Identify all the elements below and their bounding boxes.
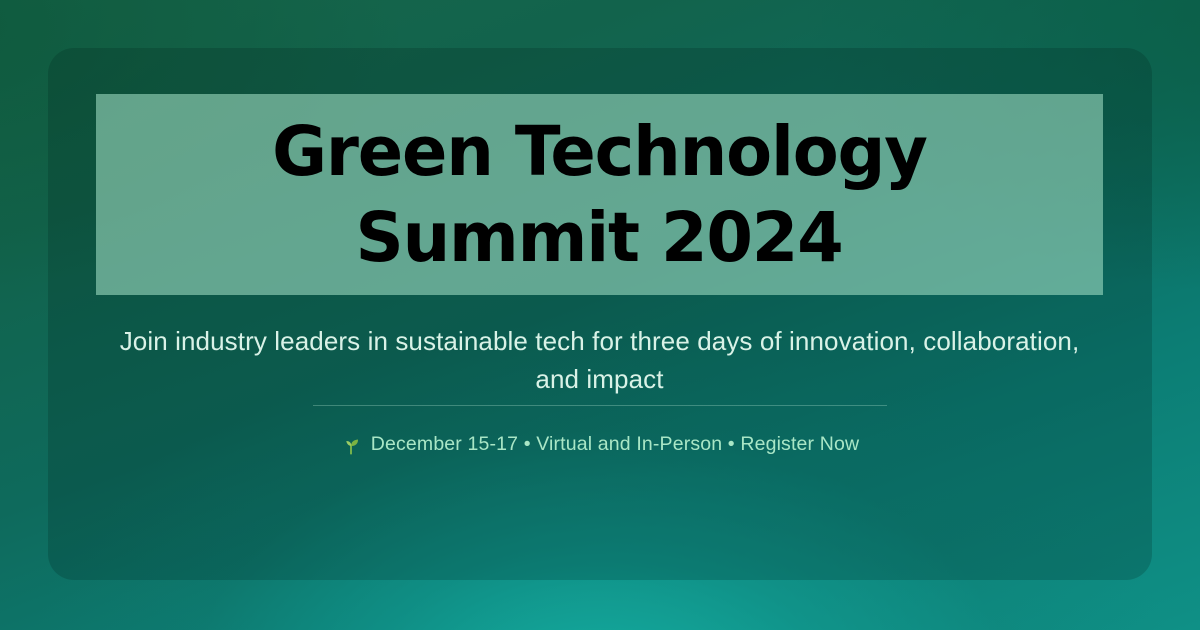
page-title-line-1: Green Technology	[272, 109, 927, 195]
divider-rule	[313, 405, 887, 406]
title-highlight-band: Green Technology Summit 2024	[96, 94, 1103, 295]
event-meta-text: December 15-17 • Virtual and In-Person •…	[371, 432, 859, 456]
page-title-line-2: Summit 2024	[356, 195, 843, 281]
seedling-icon	[340, 434, 362, 456]
event-meta-row: December 15-17 • Virtual and In-Person •…	[96, 432, 1103, 456]
subtitle-text: Join industry leaders in sustainable tec…	[96, 322, 1103, 398]
content-card: Green Technology Summit 2024 Join indust…	[48, 48, 1152, 580]
event-promo-banner: Green Technology Summit 2024 Join indust…	[0, 0, 1200, 630]
